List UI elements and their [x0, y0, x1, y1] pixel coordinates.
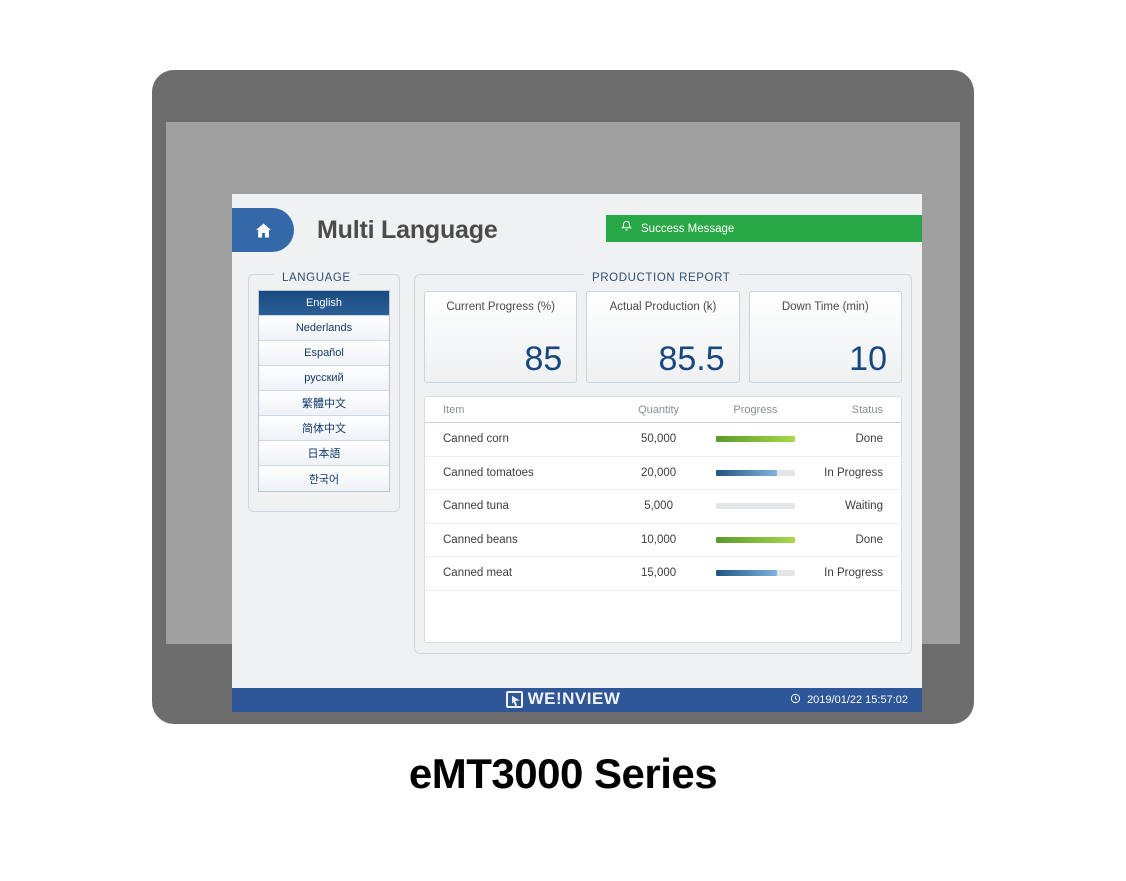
cell-quantity: 15,000 — [610, 567, 707, 579]
cell-progress — [707, 436, 804, 442]
production-report-table: Item Quantity Progress Status Canned cor… — [424, 396, 902, 643]
cell-progress — [707, 470, 804, 476]
hmi-device: Multi Language Success Message — [152, 70, 974, 724]
cursor-square-icon — [506, 691, 523, 708]
language-item-english[interactable]: English — [259, 291, 389, 316]
kpi-value: 85 — [525, 342, 563, 376]
progress-bar — [716, 470, 795, 476]
device-brand-bar: WE!NVIEW — [152, 674, 974, 724]
cell-status: In Progress — [804, 467, 883, 479]
weinview-logo: WE!NVIEW — [506, 689, 621, 709]
cell-progress — [707, 570, 804, 576]
kpi-label: Down Time (min) — [763, 301, 888, 313]
table-row-empty — [425, 591, 901, 625]
language-item-traditional-chinese[interactable]: 繁體中文 — [259, 391, 389, 416]
cell-item: Canned tuna — [443, 500, 610, 512]
cell-status: In Progress — [804, 567, 883, 579]
kpi-down-time: Down Time (min) 10 — [749, 291, 902, 383]
cell-quantity: 50,000 — [610, 433, 707, 445]
hmi-screen: Multi Language Success Message — [232, 194, 922, 712]
language-panel-legend: LANGUAGE — [274, 272, 359, 284]
kpi-label: Actual Production (k) — [600, 301, 725, 313]
progress-bar — [716, 537, 795, 543]
cell-progress — [707, 537, 804, 543]
success-message-banner[interactable]: Success Message — [606, 215, 922, 242]
kpi-value: 85.5 — [658, 342, 724, 376]
language-item-japanese[interactable]: 日本語 — [259, 441, 389, 466]
cell-quantity: 10,000 — [610, 534, 707, 546]
language-item-nederlands[interactable]: Nederlands — [259, 316, 389, 341]
screen-body: LANGUAGE English Nederlands Español русс… — [232, 266, 922, 688]
production-panel-frame: PRODUCTION REPORT — [414, 274, 912, 284]
kpi-actual-production: Actual Production (k) 85.5 — [586, 291, 739, 383]
device-bezel-inner: Multi Language Success Message — [166, 122, 960, 644]
progress-bar — [716, 436, 795, 442]
progress-bar — [716, 570, 795, 576]
kpi-current-progress: Current Progress (%) 85 — [424, 291, 577, 383]
bell-icon — [620, 219, 633, 238]
progress-bar-fill — [716, 570, 777, 576]
column-header-status: Status — [804, 404, 883, 416]
table-row[interactable]: Canned meat 15,000 In Progress — [425, 557, 901, 591]
cell-quantity: 5,000 — [610, 500, 707, 512]
cell-item: Canned tomatoes — [443, 467, 610, 479]
language-panel-frame: LANGUAGE — [248, 274, 400, 284]
kpi-value: 10 — [849, 342, 887, 376]
cell-item: Canned beans — [443, 534, 610, 546]
language-item-espanol[interactable]: Español — [259, 341, 389, 366]
alert-text: Success Message — [641, 223, 734, 235]
progress-bar-fill — [716, 537, 795, 543]
language-list[interactable]: English Nederlands Español русский 繁體中文 … — [258, 290, 390, 492]
language-item-simplified-chinese[interactable]: 简体中文 — [259, 416, 389, 441]
cell-status: Done — [804, 534, 883, 546]
brand-name: WE!NVIEW — [528, 689, 621, 709]
cell-status: Waiting — [804, 500, 883, 512]
production-panel-legend: PRODUCTION REPORT — [584, 272, 738, 284]
cell-quantity: 20,000 — [610, 467, 707, 479]
production-report-panel: PRODUCTION REPORT Current Progress (%) 8… — [414, 274, 912, 654]
table-header-row: Item Quantity Progress Status — [425, 397, 901, 423]
table-row[interactable]: Canned beans 10,000 Done — [425, 524, 901, 558]
cell-status: Done — [804, 433, 883, 445]
home-icon — [254, 221, 273, 240]
table-row[interactable]: Canned corn 50,000 Done — [425, 423, 901, 457]
column-header-quantity: Quantity — [610, 404, 707, 416]
cell-item: Canned corn — [443, 433, 610, 445]
app-header: Multi Language Success Message — [232, 194, 922, 266]
progress-bar-fill — [716, 470, 777, 476]
cell-item: Canned meat — [443, 567, 610, 579]
progress-bar — [716, 503, 795, 509]
progress-bar-fill — [716, 436, 795, 442]
table-row[interactable]: Canned tomatoes 20,000 In Progress — [425, 457, 901, 491]
home-button[interactable] — [232, 208, 294, 252]
kpi-label: Current Progress (%) — [438, 301, 563, 313]
page-title: Multi Language — [317, 216, 498, 245]
language-item-korean[interactable]: 한국어 — [259, 466, 389, 491]
kpi-row: Current Progress (%) 85 Actual Productio… — [424, 291, 902, 383]
cell-progress — [707, 503, 804, 509]
product-caption: eMT3000 Series — [0, 750, 1126, 798]
column-header-item: Item — [443, 404, 610, 416]
column-header-progress: Progress — [707, 404, 804, 416]
table-row[interactable]: Canned tuna 5,000 Waiting — [425, 490, 901, 524]
language-panel: LANGUAGE English Nederlands Español русс… — [248, 274, 400, 512]
language-item-russian[interactable]: русский — [259, 366, 389, 391]
